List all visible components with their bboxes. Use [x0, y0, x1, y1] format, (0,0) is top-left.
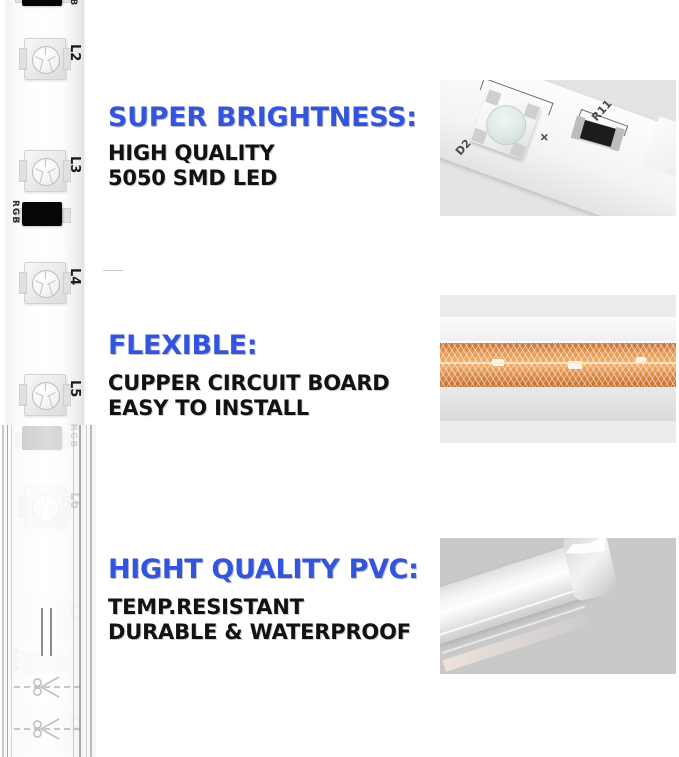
- feature-line: EASY TO INSTALL: [108, 396, 390, 421]
- rgb-chip-label: RGB: [68, 0, 77, 6]
- solder-pad-right: [62, 208, 71, 223]
- led-unit-l4: L4: [6, 256, 84, 364]
- rgb-chip-label: RGB: [10, 200, 19, 224]
- rgb-driver-chip: [22, 202, 62, 226]
- lead-wire-marks: [38, 608, 58, 656]
- led-package: [24, 150, 66, 192]
- tube-bottom-shell: [440, 387, 676, 421]
- cut-line-marker-1: [14, 672, 80, 702]
- feature-block-pvc-quality: HIGHT QUALITY PVC: TEMP.RESISTANT DURABL…: [108, 554, 419, 645]
- scissors-icon: [32, 716, 62, 742]
- led-unit-l3: L3 RGB: [6, 144, 84, 252]
- feature-line: DURABLE & WATERPROOF: [108, 620, 419, 645]
- led-dome-icon: [32, 270, 60, 298]
- feature-heading: FLEXIBLE:: [108, 330, 390, 361]
- led-strip-illustration: RGB L2 L3 RGB: [0, 0, 96, 757]
- clear-tube-with-copper: [440, 317, 676, 421]
- feature-line: 5050 SMD LED: [108, 166, 417, 191]
- led-unit-top-partial: RGB: [6, 0, 84, 32]
- tube-top-shell: [440, 317, 676, 343]
- pvc-sleeve-sample: [440, 538, 646, 674]
- feature-block-super-brightness: SUPER BRIGHTNESS: HIGH QUALITY 5050 SMD …: [108, 102, 417, 191]
- led-phosphor-dome: [481, 100, 532, 151]
- led-dome-icon: [32, 382, 60, 410]
- led-label: L5: [68, 380, 81, 397]
- feature-line: HIGH QUALITY: [108, 141, 417, 166]
- photo-pvc-sleeve-end: [440, 538, 676, 674]
- sleeve-reflection: [442, 614, 588, 672]
- led-package: [24, 374, 66, 416]
- rgb-driver-chip: [22, 0, 62, 6]
- pcb-strip-diagonal: R11 D2 +: [440, 80, 676, 216]
- led-label: L3: [68, 156, 81, 173]
- led-label: L2: [68, 44, 81, 61]
- pvc-sleeve-overlay: [0, 425, 96, 757]
- silkscreen-label-polarity: +: [536, 128, 554, 146]
- copper-braid: [440, 343, 676, 389]
- led-label: L4: [68, 268, 81, 285]
- divider: [103, 270, 123, 271]
- scissors-icon: [32, 674, 62, 700]
- led-unit-l2: L2: [6, 32, 84, 140]
- feature-line: CUPPER CIRCUIT BOARD: [108, 371, 390, 396]
- led-package: [24, 262, 66, 304]
- feature-line: TEMP.RESISTANT: [108, 595, 419, 620]
- smd-led-partial: [642, 116, 676, 183]
- led-dome-icon: [32, 158, 60, 186]
- feature-block-flexible: FLEXIBLE: CUPPER CIRCUIT BOARD EASY TO I…: [108, 330, 390, 421]
- cut-line-marker-2: [14, 714, 80, 744]
- led-dome-icon: [32, 46, 60, 74]
- photo-5050-smd-led: R11 D2 +: [440, 80, 676, 216]
- led-package: [24, 38, 66, 80]
- feature-heading: HIGHT QUALITY PVC:: [108, 554, 419, 585]
- photo-copper-circuit-board: [440, 295, 676, 443]
- feature-heading: SUPER BRIGHTNESS:: [108, 102, 417, 133]
